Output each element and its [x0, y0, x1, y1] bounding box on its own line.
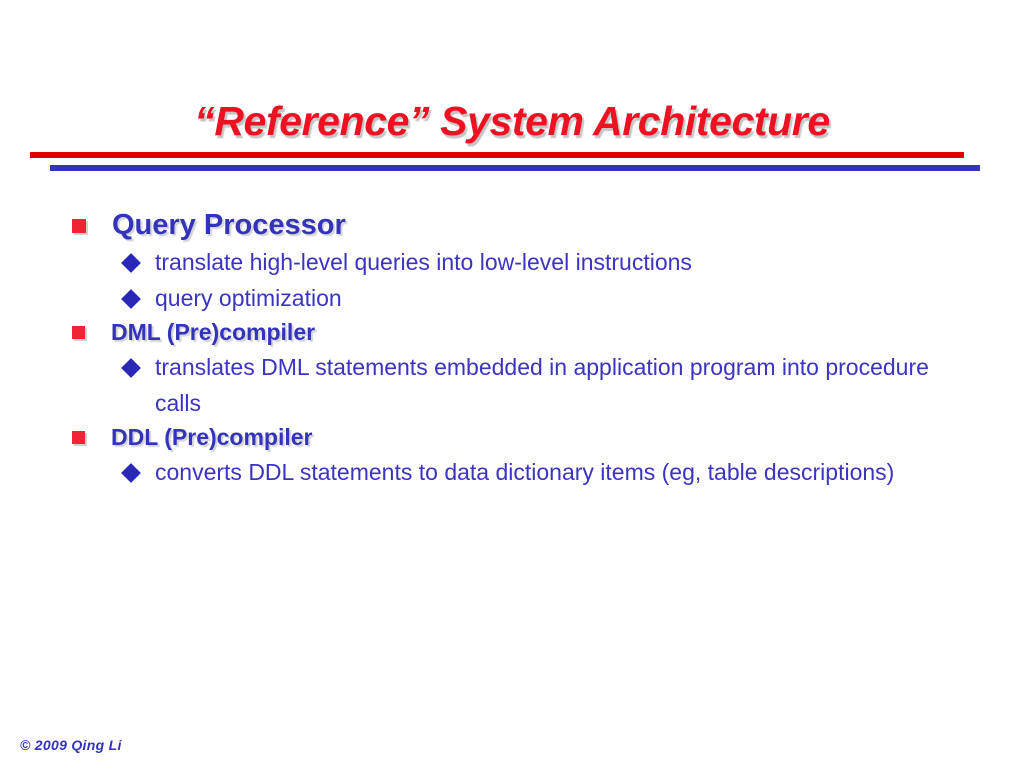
sub-bullet-label: translates DML statements embedded in ap…	[155, 349, 955, 421]
sub-bullet-label: converts DDL statements to data dictiona…	[155, 454, 894, 490]
bullet-label-ddl-precompiler: DDL (Pre)compiler	[111, 421, 313, 454]
sub-bullet-item: translate high-level queries into low-le…	[0, 244, 1024, 280]
footer-copyright: © 2009 Qing Li	[20, 737, 122, 753]
blue-diamond-bullet-icon	[121, 358, 141, 378]
title-underline-blue	[50, 165, 980, 171]
sub-bullet-item: converts DDL statements to data dictiona…	[0, 454, 1024, 490]
blue-diamond-bullet-icon	[121, 463, 141, 483]
content-group-query-processor: Query Processor translate high-level que…	[0, 206, 1024, 316]
blue-diamond-bullet-icon	[121, 253, 141, 273]
content-group-dml-precompiler: DML (Pre)compiler translates DML stateme…	[0, 316, 1024, 421]
red-square-bullet-icon	[72, 326, 85, 339]
blue-diamond-bullet-icon	[121, 289, 141, 309]
sub-bullet-item: translates DML statements embedded in ap…	[0, 349, 1024, 421]
slide: “Reference” System Architecture Query Pr…	[0, 0, 1024, 768]
bullet-item-dml-precompiler: DML (Pre)compiler	[0, 316, 1024, 349]
bullet-label-query-processor: Query Processor	[112, 206, 346, 244]
bullet-item-query-processor: Query Processor	[0, 206, 1024, 244]
title-block: “Reference” System Architecture	[0, 96, 1024, 176]
sub-bullet-label: query optimization	[155, 280, 342, 316]
bullet-label-dml-precompiler: DML (Pre)compiler	[111, 316, 315, 349]
content-group-ddl-precompiler: DDL (Pre)compiler converts DDL statement…	[0, 421, 1024, 490]
sub-bullet-item: query optimization	[0, 280, 1024, 316]
title-underline-red	[30, 152, 964, 158]
red-square-bullet-icon	[72, 431, 85, 444]
red-square-bullet-icon	[72, 219, 86, 233]
page-title: “Reference” System Architecture	[0, 96, 1024, 146]
sub-bullet-label: translate high-level queries into low-le…	[155, 244, 692, 280]
bullet-item-ddl-precompiler: DDL (Pre)compiler	[0, 421, 1024, 454]
content-body: Query Processor translate high-level que…	[0, 206, 1024, 490]
